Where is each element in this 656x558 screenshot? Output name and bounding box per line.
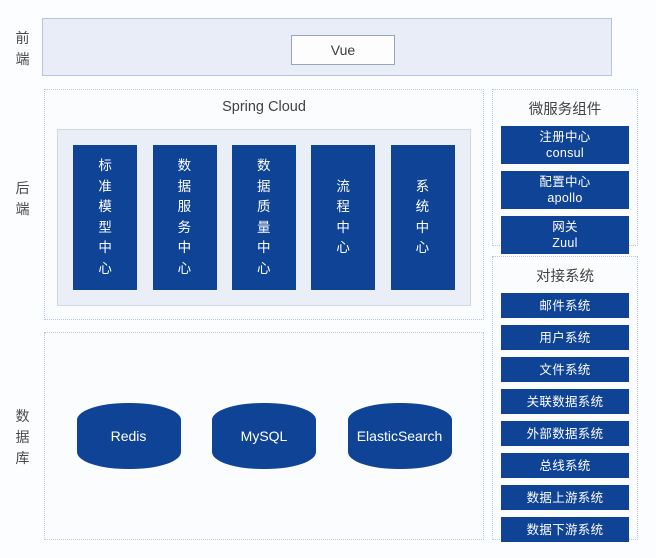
service-char: 中 — [98, 238, 112, 259]
row-label-frontend-char-0: 前 — [8, 28, 38, 49]
service-char: 据 — [178, 177, 192, 198]
vue-box[interactable]: Vue — [291, 35, 395, 65]
external-item-user-system[interactable]: 用户系统 — [501, 325, 629, 350]
external-item-list: 邮件系统 用户系统 文件系统 关联数据系统 外部数据系统 总线系统 数据上游系统… — [493, 293, 637, 542]
service-char: 心 — [98, 259, 112, 280]
microservice-item-gateway[interactable]: 网关 Zuul — [501, 216, 629, 254]
service-box-list: 标 准 模 型 中 心 数 据 服 务 中 心 数 据 — [58, 130, 470, 305]
microservice-item-config-sub: apollo — [501, 190, 629, 206]
service-char: 流 — [336, 177, 350, 198]
service-char: 模 — [98, 197, 112, 218]
external-item-mail-system[interactable]: 邮件系统 — [501, 293, 629, 318]
microservice-item-list: 注册中心 consul 配置中心 apollo 网关 Zuul — [493, 126, 637, 254]
row-label-database-char-1: 据 — [8, 427, 38, 448]
service-char: 心 — [257, 259, 271, 280]
microservice-item-config[interactable]: 配置中心 apollo — [501, 171, 629, 209]
row-label-backend-char-0: 后 — [8, 178, 38, 199]
service-char: 中 — [257, 238, 271, 259]
frontend-panel: Vue — [42, 18, 612, 76]
service-char: 标 — [98, 156, 112, 177]
microservice-panel-title: 微服务组件 — [493, 98, 637, 119]
service-char: 数 — [257, 156, 271, 177]
row-label-backend: 后 端 — [8, 178, 38, 220]
service-char: 心 — [416, 238, 430, 259]
external-item-downstream-data-system[interactable]: 数据下游系统 — [501, 517, 629, 542]
service-char: 准 — [98, 177, 112, 198]
database-cylinder-elasticsearch[interactable]: ElasticSearch — [348, 403, 452, 469]
microservice-components-panel: 微服务组件 注册中心 consul 配置中心 apollo 网关 Zuul — [492, 89, 638, 246]
service-char: 心 — [178, 259, 192, 280]
spring-cloud-title: Spring Cloud — [45, 99, 483, 115]
external-item-linked-data-system[interactable]: 关联数据系统 — [501, 389, 629, 414]
external-item-file-system[interactable]: 文件系统 — [501, 357, 629, 382]
microservice-item-config-label: 配置中心 — [539, 175, 590, 189]
service-char: 务 — [178, 218, 192, 239]
microservice-item-registry-label: 注册中心 — [539, 130, 590, 144]
external-item-bus-system[interactable]: 总线系统 — [501, 453, 629, 478]
external-panel-title: 对接系统 — [493, 265, 637, 286]
service-box-system-center[interactable]: 系 统 中 心 — [391, 145, 455, 290]
service-char: 据 — [257, 177, 271, 198]
service-char: 数 — [178, 156, 192, 177]
database-item-list: Redis MySQL ElasticSearch — [45, 333, 483, 539]
database-panel: Redis MySQL ElasticSearch — [44, 332, 484, 540]
service-char: 中 — [178, 238, 192, 259]
row-label-frontend: 前 端 — [8, 28, 38, 70]
service-box-data-quality-center[interactable]: 数 据 质 量 中 心 — [232, 145, 296, 290]
service-char: 质 — [257, 197, 271, 218]
architecture-diagram: 前 端 后 端 数 据 库 Vue Spring Cloud 标 准 模 型 中… — [0, 0, 656, 558]
spring-cloud-panel: Spring Cloud 标 准 模 型 中 心 数 据 服 务 中 心 — [44, 89, 484, 320]
row-label-backend-char-1: 端 — [8, 199, 38, 220]
database-cylinder-mysql[interactable]: MySQL — [212, 403, 316, 469]
service-char: 量 — [257, 218, 271, 239]
service-char: 心 — [336, 238, 350, 259]
external-item-upstream-data-system[interactable]: 数据上游系统 — [501, 485, 629, 510]
microservice-item-registry-sub: consul — [501, 145, 629, 161]
database-cylinder-redis[interactable]: Redis — [77, 403, 181, 469]
microservice-item-gateway-label: 网关 — [552, 220, 578, 234]
microservice-item-registry[interactable]: 注册中心 consul — [501, 126, 629, 164]
service-char: 统 — [416, 197, 430, 218]
service-char: 中 — [416, 218, 430, 239]
row-label-database-char-0: 数 — [8, 406, 38, 427]
service-box-data-service-center[interactable]: 数 据 服 务 中 心 — [153, 145, 217, 290]
service-char: 服 — [178, 197, 192, 218]
service-box-process-center[interactable]: 流 程 中 心 — [311, 145, 375, 290]
service-char: 型 — [98, 218, 112, 239]
service-box-standard-model-center[interactable]: 标 准 模 型 中 心 — [73, 145, 137, 290]
service-char: 程 — [336, 197, 350, 218]
row-label-database-char-2: 库 — [8, 448, 38, 469]
service-char: 系 — [416, 177, 430, 198]
microservice-item-gateway-sub: Zuul — [501, 235, 629, 251]
row-label-database: 数 据 库 — [8, 406, 38, 469]
row-label-frontend-char-1: 端 — [8, 49, 38, 70]
service-char: 中 — [336, 218, 350, 239]
spring-cloud-inner-panel: 标 准 模 型 中 心 数 据 服 务 中 心 数 据 — [57, 129, 471, 306]
external-systems-panel: 对接系统 邮件系统 用户系统 文件系统 关联数据系统 外部数据系统 总线系统 数… — [492, 256, 638, 540]
external-item-external-data-system[interactable]: 外部数据系统 — [501, 421, 629, 446]
